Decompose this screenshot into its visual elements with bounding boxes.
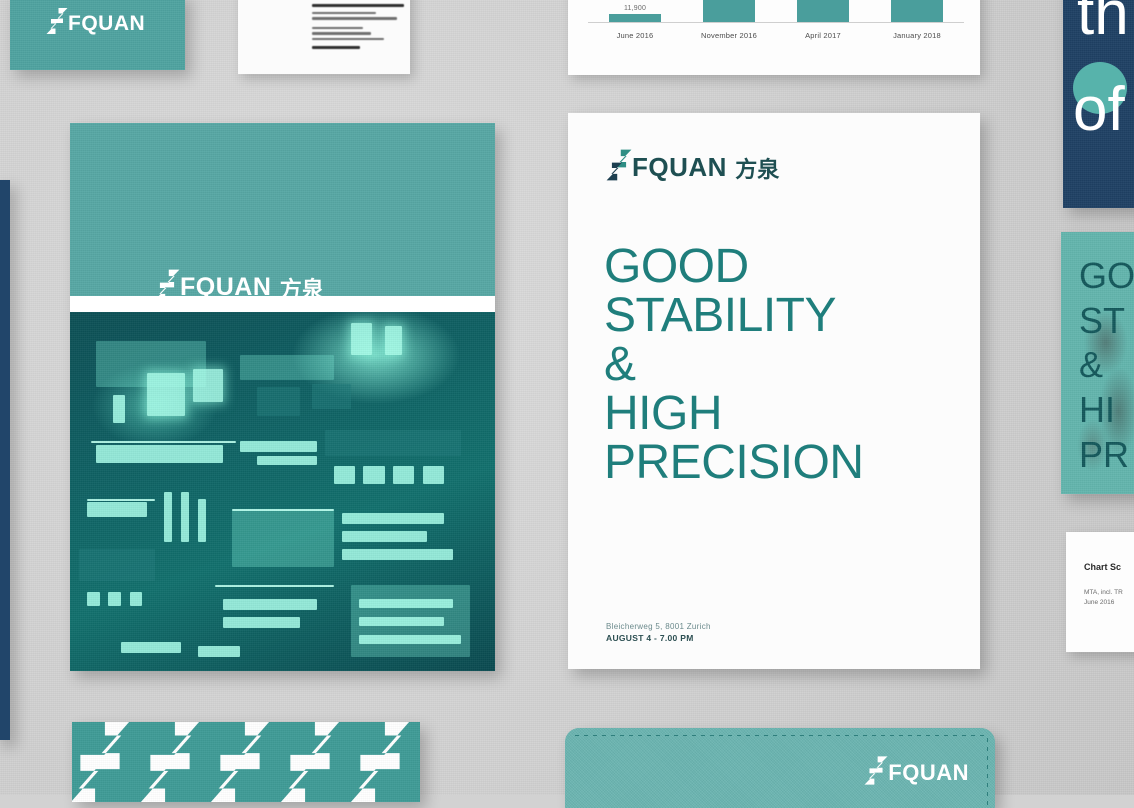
bizcard-person-name	[312, 4, 404, 7]
fquan-logo-mark-icon	[154, 269, 180, 306]
logo-wordmark-cn: 方泉	[280, 272, 324, 304]
pattern-mark-icon	[204, 722, 276, 802]
headline-line-3: &	[604, 341, 962, 390]
chart-x-axis: June 2016 November 2016 April 2017 Janua…	[588, 25, 964, 45]
x-tick-label: January 2018	[876, 31, 959, 40]
business-card-teal: FQUAN	[10, 0, 185, 70]
brochure-cover: FQUAN 方泉	[70, 123, 495, 671]
fquan-logo-mark-icon	[606, 149, 632, 186]
teal-poster-headline: GO ST & HI PR	[1079, 254, 1134, 477]
bar-november-2016	[703, 0, 754, 22]
bizcard-contact-4	[312, 46, 360, 49]
logo-wordmark: FQUAN	[68, 12, 145, 36]
navy-poster-card: th of	[1063, 0, 1134, 208]
headline-line-4: HIGH	[604, 390, 962, 439]
spec-sub-line-1: MTA, incl. TR	[1084, 588, 1123, 598]
folder-stitching-top	[575, 735, 985, 736]
fquan-logo-mark-icon	[46, 8, 68, 39]
teal-folder: FQUAN	[565, 728, 995, 808]
chart-plot-area: 11,900 34,000	[588, 0, 964, 23]
poster-footer: Bleicherweg 5, 8001 Zurich AUGUST 4 - 7.…	[606, 622, 711, 643]
tp-line-3: &	[1079, 343, 1134, 388]
navy-text-line-2: of	[1073, 82, 1125, 138]
x-tick-label: June 2016	[594, 31, 677, 40]
tp-line-5: PR	[1079, 433, 1134, 478]
bizcard-contact-3	[312, 38, 384, 40]
spec-card-title: Chart Sc	[1084, 562, 1121, 572]
brochure-logo-lockup: FQUAN 方泉	[154, 269, 324, 306]
bar-chart: 11,900 34,000 June 2016 November 2016 Ap…	[588, 0, 964, 45]
poster-event-time: AUGUST 4 - 7.00 PM	[606, 633, 711, 643]
folder-stitching-right	[987, 738, 988, 806]
pattern-card	[72, 722, 420, 802]
circuit-board-photo	[70, 312, 495, 671]
left-edge-navy-card	[0, 180, 10, 740]
spec-card-subtitle: MTA, incl. TR June 2016	[1084, 588, 1123, 608]
pattern-mark-icon	[72, 722, 136, 802]
logo-wordmark-cn: 方泉	[735, 152, 779, 184]
headline-line-2: STABILITY	[604, 292, 962, 341]
poster-logo-lockup: FQUAN 方泉	[606, 149, 779, 186]
tp-line-1: GO	[1079, 254, 1134, 299]
bar-column	[876, 0, 959, 22]
spec-sub-line-2: June 2016	[1084, 598, 1123, 608]
chart-spec-card: Chart Sc MTA, incl. TR June 2016	[1066, 532, 1134, 652]
logo-wordmark: FQUAN	[632, 152, 727, 183]
chart-card: 11,900 34,000 June 2016 November 2016 Ap…	[568, 0, 980, 75]
bizcard-title-1	[312, 12, 376, 14]
fquan-logo-mark-icon	[864, 756, 888, 790]
business-card-white	[238, 0, 410, 74]
bizcard-contact-1	[312, 27, 363, 29]
bar-column: 34,000	[688, 0, 771, 22]
tp-line-2: ST	[1079, 299, 1134, 344]
logo-lockup: FQUAN	[46, 8, 145, 39]
main-poster: FQUAN 方泉 GOOD STABILITY & HIGH PRECISION…	[568, 113, 980, 669]
logo-wordmark: FQUAN	[888, 760, 969, 786]
tp-line-4: HI	[1079, 388, 1134, 433]
bizcard-contact-2	[312, 32, 371, 34]
pattern-mark-icon	[344, 722, 416, 802]
bar-column: 11,900	[594, 0, 677, 22]
poster-address: Bleicherweg 5, 8001 Zurich	[606, 622, 711, 631]
bar-january-2018	[891, 0, 942, 22]
bar-april-2017	[797, 0, 848, 22]
headline-line-5: PRECISION	[604, 439, 962, 488]
teal-poster-card: GO ST & HI PR	[1061, 232, 1134, 494]
logo-wordmark: FQUAN	[180, 273, 271, 302]
pattern-field	[72, 722, 420, 802]
x-tick-label: November 2016	[688, 31, 771, 40]
folder-logo-lockup: FQUAN	[864, 756, 969, 790]
poster-headline: GOOD STABILITY & HIGH PRECISION	[604, 243, 962, 488]
bar-column	[782, 0, 865, 22]
pattern-mark-icon	[134, 722, 206, 802]
bizcard-title-2	[312, 17, 397, 19]
headline-line-1: GOOD	[604, 243, 962, 292]
bizcard-contact-block	[312, 4, 404, 52]
bar-value-label: 11,900	[624, 5, 646, 12]
pattern-mark-icon	[274, 722, 346, 802]
navy-text-line-1: th	[1077, 0, 1129, 42]
bar-june-2016	[609, 14, 660, 22]
x-tick-label: April 2017	[782, 31, 865, 40]
